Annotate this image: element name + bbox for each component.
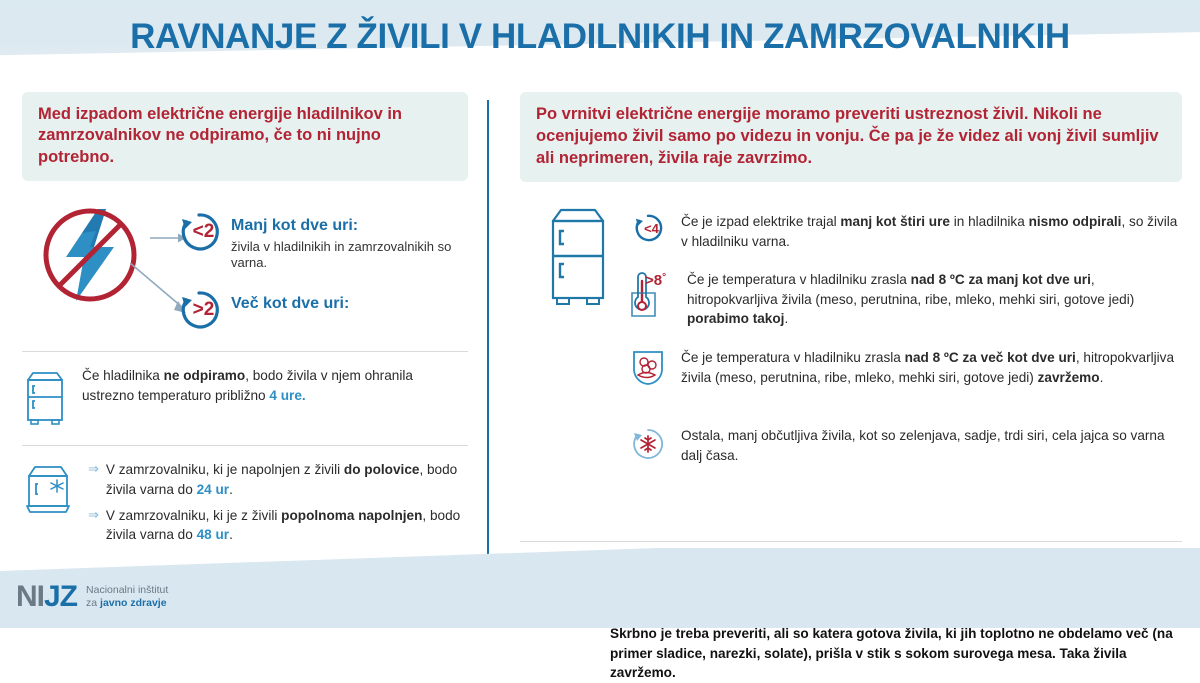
fridge-icon	[546, 204, 610, 321]
circular-arrow-badge-icon: >2	[178, 289, 220, 331]
logo-wordmark: Nacionalni inštitut za javno zdravje	[86, 584, 168, 610]
freezer-check-block: Preverimo vsako živilo posebej. Če so v …	[520, 542, 1182, 682]
check-item-text: Če je temperatura v hladilniku zrasla na…	[687, 270, 1180, 328]
fridge-info-row: Če hladilnika ne odpiramo, bodo živila v…	[22, 352, 468, 445]
duration-title: Več kot dve uri:	[231, 289, 349, 313]
freezer-icon	[22, 460, 74, 523]
check-item-less-sensitive-foods: Ostala, manj občutljiva živila, kot so z…	[628, 426, 1180, 465]
temp-badge-label: >8°	[645, 272, 666, 289]
thermometer-icon: >8°	[628, 270, 674, 315]
logo-line-2: za javno zdravje	[86, 597, 168, 610]
no-electricity-icon	[36, 201, 144, 314]
clock-less-than-four-icon: <4	[628, 212, 668, 243]
duration-item-more-than-two: >2 Več kot dve uri:	[178, 289, 349, 331]
left-column: Med izpadom električne energije hladilni…	[22, 92, 468, 557]
duration-item-less-than-two: <2 Manj kot dve uri: živila v hladilniki…	[178, 211, 468, 271]
freezer-bullet-text: V zamrzovalniku, ki je z živili popolnom…	[106, 506, 468, 545]
nijz-logo: NIJZ Nacionalni inštitut za javno zdravj…	[16, 582, 168, 612]
check-item-temp-long: Če je temperatura v hladilniku zrasla na…	[628, 348, 1180, 387]
fridge-checks-block: <4 Če je izpad elektrike trajal manj kot…	[520, 196, 1182, 541]
duration-title: Manj kot dve uri:	[231, 211, 468, 235]
freezer-bullet-text: V zamrzovalniku, ki je napolnjen z živil…	[106, 460, 468, 499]
arrow-bullet-icon: ⇒	[88, 460, 99, 499]
column-divider	[487, 100, 489, 590]
check-item-text: Če je temperatura v hladilniku zrasla na…	[681, 348, 1180, 387]
arrow-bullet-icon: ⇒	[88, 506, 99, 545]
freezer-bullet: ⇒ V zamrzovalniku, ki je napolnjen z živ…	[88, 460, 468, 499]
duration-badge-label: <2	[178, 211, 220, 253]
badge-label: <4	[633, 213, 663, 243]
power-outage-duration-block: <2 Manj kot dve uri: živila v hladilniki…	[22, 193, 468, 351]
freezer-info-row: ⇒ V zamrzovalniku, ki je napolnjen z živ…	[22, 446, 468, 556]
snowflake-refresh-icon	[628, 426, 668, 461]
duration-badge-label: >2	[178, 289, 220, 331]
freezer-icon	[520, 556, 594, 635]
freezer-check-paragraph: Preverimo vsako živilo posebej. Če so v …	[610, 556, 1182, 615]
freezer-check-paragraph-strong: Skrbno je treba preveriti, ali so katera…	[610, 624, 1182, 683]
left-callout-box: Med izpadom električne energije hladilni…	[22, 92, 468, 181]
check-item-text: Če je izpad elektrike trajal manj kot št…	[681, 212, 1180, 251]
duration-subtitle: živila v hladilnikih in zamrzovalnikih s…	[231, 239, 468, 272]
right-callout-box: Po vrnitvi električne energije moramo pr…	[520, 92, 1182, 182]
check-item-temp-short: >8° Če je temperatura v hladilniku zrasl…	[628, 270, 1180, 328]
check-item-text: Ostala, manj občutljiva živila, kot so z…	[681, 426, 1180, 465]
page-title: RAVNANJE Z ŽIVILI V HLADILNIKIH IN ZAMRZ…	[0, 17, 1200, 57]
logo-mark: NIJZ	[16, 582, 77, 612]
logo-line-1: Nacionalni inštitut	[86, 584, 168, 597]
circular-arrow-badge-icon: <2	[178, 211, 220, 253]
freezer-bullet: ⇒ V zamrzovalniku, ki je z živili popoln…	[88, 506, 468, 545]
check-item-less-than-four-hours: <4 Če je izpad elektrike trajal manj kot…	[628, 212, 1180, 251]
raw-meat-icon	[628, 348, 668, 387]
header-banner: RAVNANJE Z ŽIVILI V HLADILNIKIH IN ZAMRZ…	[0, 0, 1200, 82]
fridge-info-text: Če hladilnika ne odpiramo, bodo živila v…	[82, 366, 468, 405]
right-column: Po vrnitvi električne energije moramo pr…	[520, 92, 1182, 683]
fridge-icon	[22, 366, 68, 433]
